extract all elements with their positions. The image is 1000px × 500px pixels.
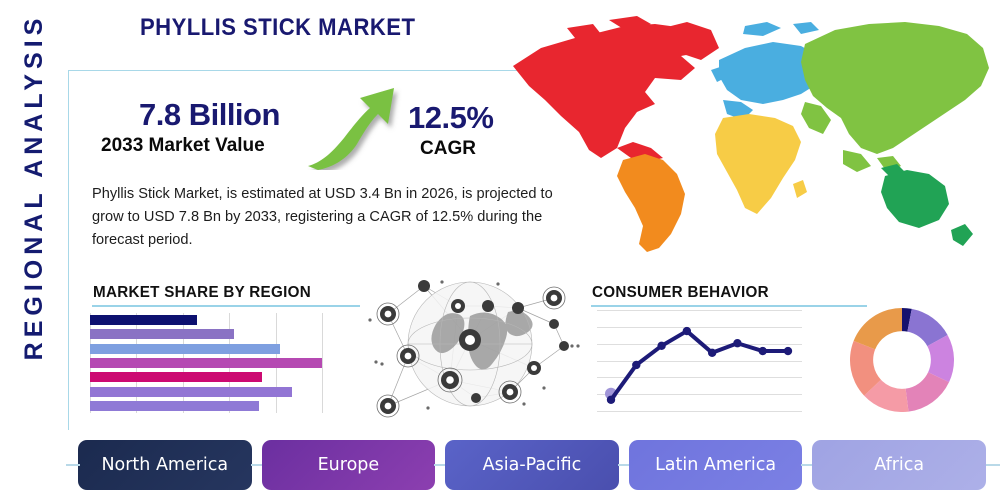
region-button-asia-pacific[interactable]: Asia-Pacific [445, 440, 619, 490]
segment-donut-chart [850, 308, 954, 412]
world-map-icon [505, 8, 997, 270]
line-chart-point [784, 347, 792, 355]
bar-fill [90, 344, 280, 354]
bar-fill [90, 315, 197, 325]
consumer-behavior-rule [591, 305, 867, 307]
growth-arrow-icon [306, 84, 402, 170]
market-share-heading: MARKET SHARE BY REGION [93, 284, 311, 302]
line-chart-point [607, 396, 615, 404]
bar-fill [90, 358, 322, 368]
region-connector-lead [66, 464, 80, 466]
line-chart-point [632, 361, 640, 369]
region-connector [251, 464, 263, 466]
bar-chart-bar [90, 401, 259, 411]
bar-chart-gridline [322, 313, 323, 413]
consumer-behavior-heading: CONSUMER BEHAVIOR [592, 284, 769, 302]
bar-chart-bar [90, 372, 262, 382]
page-title: PHYLLIS STICK MARKET [140, 14, 415, 42]
cagr-figure: 12.5% [408, 100, 493, 136]
line-chart-point [708, 349, 716, 357]
consumer-behavior-line-chart [597, 310, 802, 413]
market-value-figure: 7.8 Billion [139, 97, 280, 133]
bar-fill [90, 329, 234, 339]
market-share-bar-chart [90, 313, 322, 413]
line-chart-point [733, 339, 741, 347]
donut-segment [854, 308, 902, 349]
region-connector-tail [986, 464, 1000, 466]
region-button-row: North AmericaEuropeAsia-PacificLatin Ame… [78, 440, 986, 490]
region-button-europe[interactable]: Europe [262, 440, 436, 490]
side-label-regional-analysis: REGIONAL ANALYSIS [14, 0, 54, 387]
market-share-rule [92, 305, 360, 307]
region-button-latin-america[interactable]: Latin America [629, 440, 803, 490]
cagr-caption: CAGR [420, 138, 476, 160]
network-globe-icon [358, 272, 582, 418]
bar-chart-bar [90, 315, 197, 325]
bar-chart-bar [90, 358, 322, 368]
bar-chart-bar [90, 344, 280, 354]
bar-chart-bar [90, 329, 234, 339]
line-chart-plot [597, 310, 802, 413]
line-chart-point [683, 327, 691, 335]
bar-fill [90, 401, 259, 411]
region-button-africa[interactable]: Africa [812, 440, 986, 490]
line-chart-point [657, 342, 665, 350]
region-connector [618, 464, 630, 466]
bar-fill [90, 387, 292, 397]
line-chart-point [759, 347, 767, 355]
donut-plot [850, 308, 954, 412]
region-button-north-america[interactable]: North America [78, 440, 252, 490]
market-value-caption: 2033 Market Value [101, 135, 265, 157]
bar-chart-bar [90, 387, 292, 397]
bar-fill [90, 372, 262, 382]
